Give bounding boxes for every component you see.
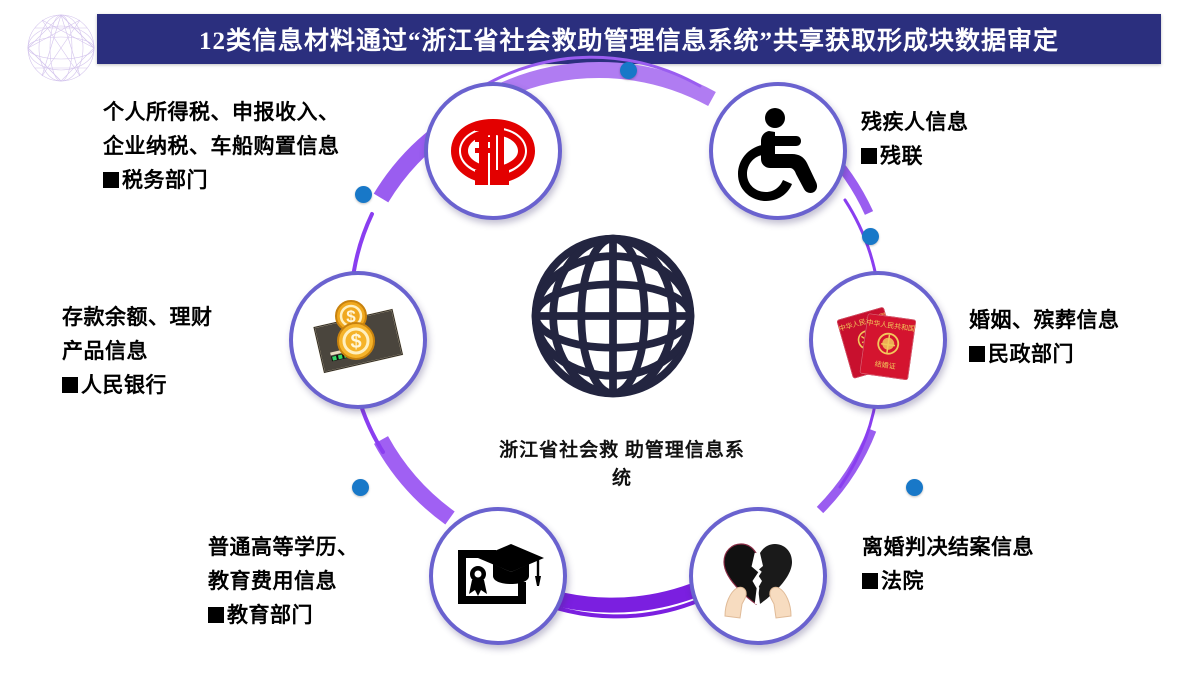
label-civil-affairs: 婚姻、殡葬信息 民政部门	[969, 303, 1120, 371]
node-bank[interactable]: $ $	[289, 271, 427, 409]
label-disability-line1: 残疾人信息	[861, 105, 969, 139]
node-civil-affairs[interactable]: 中华人民共和国 结婚证 中华人民共和国 结婚证	[809, 271, 947, 409]
svg-text:$: $	[350, 331, 361, 353]
accent-dot-lower-left	[352, 479, 369, 496]
wireframe-sphere-decoration	[22, 4, 100, 96]
bullet-square-icon	[862, 573, 878, 589]
label-bank: 存款余额、理财 产品信息 人民银行	[62, 300, 213, 402]
diploma-graduation-cap-icon	[448, 526, 548, 626]
label-civil-affairs-department: 民政部门	[969, 337, 1120, 371]
label-tax-department: 税务部门	[103, 163, 340, 197]
label-education-department: 教育部门	[208, 598, 359, 632]
center-caption-line1: 浙江省社会救	[499, 440, 619, 461]
slide-canvas: 12类信息材料通过“浙江省社会救助管理信息系统”共享获取形成块数据审定	[0, 0, 1201, 676]
label-bank-line2: 产品信息	[62, 334, 213, 368]
globe-icon	[525, 228, 701, 404]
title-banner: 12类信息材料通过“浙江省社会救助管理信息系统”共享获取形成块数据审定	[97, 14, 1161, 64]
node-education[interactable]	[429, 507, 567, 645]
label-civil-affairs-line1: 婚姻、殡葬信息	[969, 303, 1120, 337]
money-card-coins-icon: $ $	[308, 290, 408, 390]
marriage-certificate-icon: 中华人民共和国 结婚证 中华人民共和国 结婚证	[828, 290, 928, 390]
label-disability-department: 残联	[861, 139, 969, 173]
label-court-department: 法院	[862, 564, 1034, 598]
node-court[interactable]	[689, 507, 827, 645]
center-caption: 浙江省社会救 助管理信息系统	[497, 437, 747, 493]
bullet-square-icon	[208, 607, 224, 623]
label-tax-line2: 企业纳税、车船购置信息	[103, 129, 340, 163]
bullet-square-icon	[969, 346, 985, 362]
wheelchair-accessibility-icon	[728, 101, 828, 201]
page-title: 12类信息材料通过“浙江省社会救助管理信息系统”共享获取形成块数据审定	[199, 21, 1059, 57]
node-tax[interactable]	[424, 82, 562, 220]
bullet-square-icon	[62, 377, 78, 393]
bullet-square-icon	[861, 148, 877, 164]
accent-dot-lower-right	[906, 479, 923, 496]
accent-dot-upper-left	[355, 186, 372, 203]
node-disability[interactable]	[709, 82, 847, 220]
label-bank-line1: 存款余额、理财	[62, 300, 213, 334]
label-court: 离婚判决结案信息 法院	[862, 530, 1034, 598]
label-education: 普通高等学历、 教育费用信息 教育部门	[208, 530, 359, 632]
label-disability: 残疾人信息 残联	[861, 105, 969, 173]
label-education-line1: 普通高等学历、	[208, 530, 359, 564]
bullet-square-icon	[103, 172, 119, 188]
accent-dot-upper-right	[862, 228, 879, 245]
center-caption-line2: 助管理信息系统	[612, 440, 745, 489]
label-tax: 个人所得税、申报收入、 企业纳税、车船购置信息 税务部门	[103, 95, 340, 197]
accent-dot-top	[620, 62, 637, 79]
broken-heart-hands-icon	[708, 526, 808, 626]
tax-bureau-emblem-icon	[443, 101, 543, 201]
label-court-line1: 离婚判决结案信息	[862, 530, 1034, 564]
label-tax-line1: 个人所得税、申报收入、	[103, 95, 340, 129]
label-education-line2: 教育费用信息	[208, 564, 359, 598]
label-bank-department: 人民银行	[62, 368, 213, 402]
